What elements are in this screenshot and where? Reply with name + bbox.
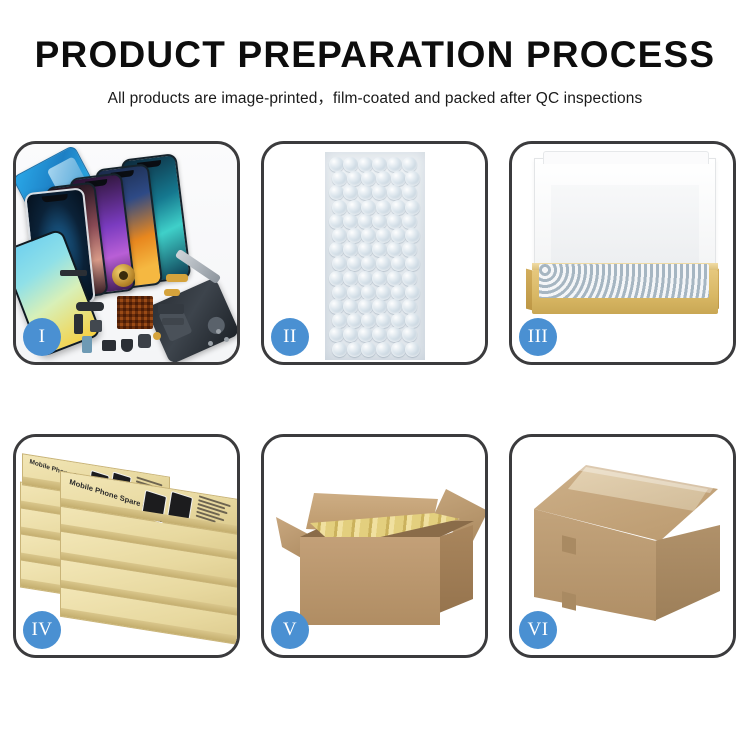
bubble-icon — [405, 200, 420, 215]
step-badge-ii: II — [271, 318, 309, 356]
bubble-icon — [402, 327, 417, 342]
bubble-icon — [343, 214, 358, 229]
bubble-wrap-pouch-icon — [325, 152, 425, 360]
bubble-icon — [358, 327, 373, 342]
carton-notch-icon — [562, 535, 576, 554]
bubble-icon — [372, 157, 387, 172]
bubble-icon — [391, 256, 406, 271]
bubble-icon — [347, 256, 362, 271]
bubble-icon — [361, 171, 376, 186]
step-panel-iv: Mobile Phone Spare Parts — [13, 434, 240, 658]
flex-cable-icon — [60, 270, 87, 276]
step-badge-iii: III — [519, 318, 557, 356]
bubble-icon — [343, 185, 358, 200]
carton-side-icon — [439, 525, 473, 613]
header: PRODUCT PREPARATION PROCESS All products… — [0, 0, 750, 108]
bubble-icon — [405, 228, 420, 243]
screw-dot-icon — [224, 337, 229, 342]
step-badge-i: I — [23, 318, 61, 356]
bubble-icon — [402, 271, 417, 286]
copper-mesh-icon — [117, 296, 153, 329]
bubble-icon — [361, 313, 376, 328]
ribbon-cable-icon — [158, 304, 184, 314]
bubble-icon — [329, 214, 344, 229]
step-panel-vi: VI — [509, 434, 736, 658]
speaker-module-icon — [138, 334, 151, 348]
bubble-icon — [387, 299, 402, 314]
bubble-icon — [372, 299, 387, 314]
bubble-icon — [387, 327, 402, 342]
bubble-icon — [391, 285, 406, 300]
bubble-icon — [372, 214, 387, 229]
bubble-icon — [332, 228, 347, 243]
vibrator-motor-icon — [121, 339, 133, 352]
bubble-icon — [402, 299, 417, 314]
bubble-icon — [376, 171, 391, 186]
bubble-icon — [361, 285, 376, 300]
bubble-icon — [402, 157, 417, 172]
sim-tray-icon — [82, 336, 92, 353]
screw-dot-icon — [216, 329, 221, 334]
bubble-icon — [329, 157, 344, 172]
gold-connector-icon — [166, 274, 188, 282]
step-badge-vi: VI — [519, 611, 557, 649]
step-panel-ii: II — [261, 141, 488, 365]
bubble-icon — [347, 342, 362, 357]
bubble-icon — [358, 299, 373, 314]
bubble-icon — [387, 214, 402, 229]
bubble-icon — [358, 271, 373, 286]
bubble-icon — [347, 313, 362, 328]
bubble-icon — [405, 171, 420, 186]
page-subtitle: All products are image-printed，film-coat… — [0, 86, 750, 108]
bubble-icon — [405, 256, 420, 271]
step-badge-v: V — [271, 611, 309, 649]
bubble-icon — [402, 214, 417, 229]
bubble-icon — [343, 242, 358, 257]
bubble-icon — [387, 157, 402, 172]
bubble-icon — [405, 342, 420, 357]
phone-back-housing-icon — [146, 277, 237, 362]
bubble-icon — [332, 256, 347, 271]
bubble-icon — [372, 271, 387, 286]
carton-notch-icon — [562, 591, 576, 610]
bubble-icon — [347, 200, 362, 215]
page-title: PRODUCT PREPARATION PROCESS — [0, 36, 750, 75]
bubble-icon — [329, 185, 344, 200]
carton-right-face-icon — [654, 525, 720, 621]
step-panel-iii: III — [509, 141, 736, 365]
sealed-carton — [526, 465, 722, 629]
bubble-icon — [402, 242, 417, 257]
bubble-icon — [387, 185, 402, 200]
product-preparation-infographic: PRODUCT PREPARATION PROCESS All products… — [0, 0, 750, 750]
bubble-icon — [361, 342, 376, 357]
bubble-wrapped-contents-icon — [539, 264, 709, 298]
screw-dot-icon — [208, 341, 213, 346]
bubble-icon — [343, 157, 358, 172]
process-steps-grid: I II III — [13, 141, 737, 681]
bubble-icon — [361, 200, 376, 215]
bubble-icon — [405, 313, 420, 328]
step-panel-v: V — [261, 434, 488, 658]
bubble-icon — [332, 285, 347, 300]
bubble-icon — [361, 256, 376, 271]
bubble-icon — [329, 242, 344, 257]
bubble-icon — [372, 185, 387, 200]
carton-front-icon — [300, 537, 440, 625]
speaker-coil-icon — [112, 264, 135, 287]
bubble-icon — [376, 313, 391, 328]
bubble-icon — [329, 271, 344, 286]
bubble-field — [331, 157, 419, 355]
bubble-icon — [391, 228, 406, 243]
camera-module-icon — [102, 340, 116, 351]
box-lid-icon — [534, 158, 716, 274]
bubble-icon — [376, 342, 391, 357]
step-panel-i: I — [13, 141, 240, 365]
side-bracket-icon — [74, 314, 83, 334]
button-flex-icon — [76, 302, 104, 311]
bubble-icon — [332, 171, 347, 186]
bubble-icon — [376, 228, 391, 243]
bubble-icon — [347, 285, 362, 300]
bubble-icon — [376, 256, 391, 271]
bubble-icon — [361, 228, 376, 243]
bubble-icon — [405, 285, 420, 300]
small-chip-icon — [90, 320, 102, 332]
bubble-icon — [358, 157, 373, 172]
bubble-icon — [347, 228, 362, 243]
step-badge-iv: IV — [23, 611, 61, 649]
bubble-icon — [347, 171, 362, 186]
bubble-icon — [332, 313, 347, 328]
open-carton — [284, 475, 472, 631]
screw-icon — [153, 332, 161, 340]
bubble-icon — [376, 285, 391, 300]
bubble-icon — [358, 185, 373, 200]
antenna-strip-icon — [162, 318, 184, 325]
bubble-icon — [343, 271, 358, 286]
bubble-icon — [391, 200, 406, 215]
bubble-icon — [391, 313, 406, 328]
gold-clip-icon — [164, 289, 180, 296]
bubble-icon — [376, 200, 391, 215]
bubble-icon — [391, 171, 406, 186]
bubble-icon — [391, 342, 406, 357]
bubble-icon — [387, 271, 402, 286]
bubble-icon — [329, 327, 344, 342]
bubble-icon — [343, 327, 358, 342]
bubble-icon — [372, 327, 387, 342]
bubble-icon — [329, 299, 344, 314]
bubble-icon — [358, 214, 373, 229]
bubble-icon — [332, 200, 347, 215]
bubble-icon — [332, 342, 347, 357]
bubble-icon — [387, 242, 402, 257]
bubble-icon — [358, 242, 373, 257]
bubble-icon — [343, 299, 358, 314]
bubble-icon — [402, 185, 417, 200]
bubble-icon — [372, 242, 387, 257]
